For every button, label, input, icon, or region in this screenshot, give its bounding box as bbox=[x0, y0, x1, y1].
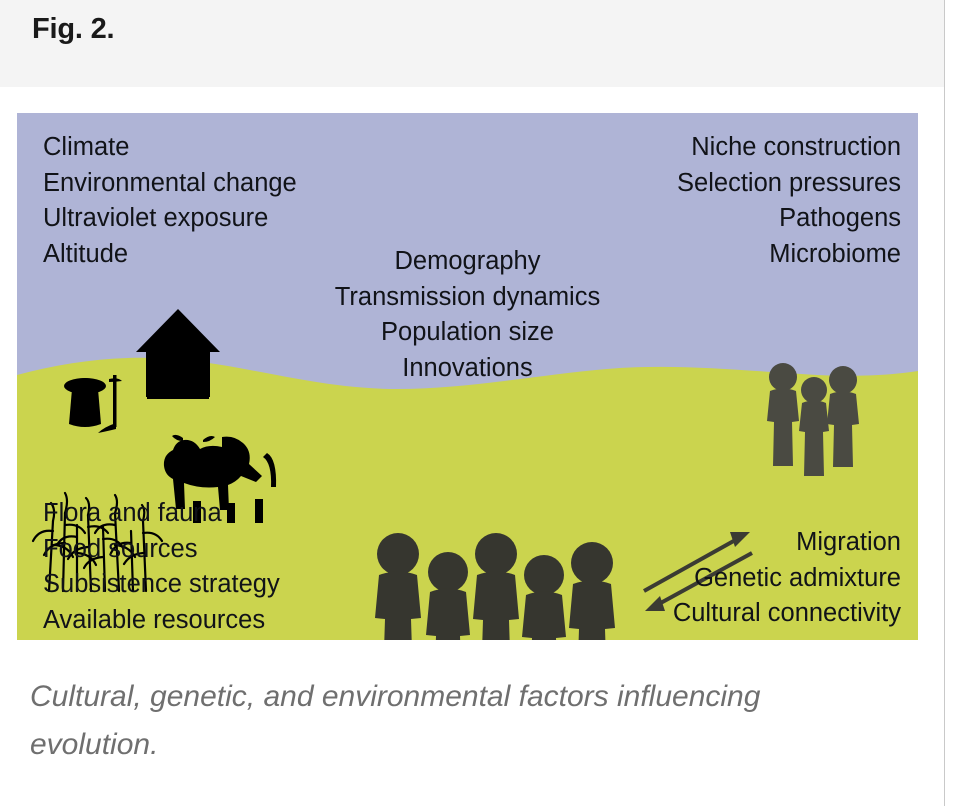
person-silhouette bbox=[426, 552, 470, 640]
resources-line: Subsistence strategy bbox=[43, 567, 280, 603]
niche-line: Niche construction bbox=[677, 130, 901, 166]
text-block-demography: Demography Transmission dynamics Populat… bbox=[17, 244, 918, 386]
migration-line: Migration bbox=[673, 525, 901, 561]
migration-line: Genetic admixture bbox=[673, 561, 901, 597]
person-silhouette bbox=[569, 542, 615, 640]
resources-line: Available resources bbox=[43, 603, 280, 639]
figure-caption: Cultural, genetic, and environmental fac… bbox=[30, 673, 890, 769]
demography-line: Transmission dynamics bbox=[17, 280, 918, 316]
figure-image[interactable]: Climate Environmental change Ultraviolet… bbox=[17, 113, 918, 640]
figure-viewer-page: Fig. 2. bbox=[0, 0, 960, 806]
resources-line: Flora and fauna bbox=[43, 496, 280, 532]
text-block-migration: Migration Genetic admixture Cultural con… bbox=[673, 525, 901, 632]
demography-line: Innovations bbox=[17, 351, 918, 387]
resources-line: Food sources bbox=[43, 532, 280, 568]
environment-line: Climate bbox=[43, 130, 297, 166]
niche-line: Selection pressures bbox=[677, 166, 901, 202]
person-silhouette bbox=[522, 555, 566, 640]
demography-line: Population size bbox=[17, 315, 918, 351]
environment-line: Environmental change bbox=[43, 166, 297, 202]
figure-header-band: Fig. 2. bbox=[0, 0, 945, 87]
niche-line: Pathogens bbox=[677, 201, 901, 237]
demography-line: Demography bbox=[17, 244, 918, 280]
text-block-resources: Flora and fauna Food sources Subsistence… bbox=[43, 496, 280, 638]
page-title: Fig. 2. bbox=[32, 12, 114, 47]
environment-line: Ultraviolet exposure bbox=[43, 201, 297, 237]
right-gutter bbox=[945, 0, 960, 806]
panel-divider bbox=[944, 0, 945, 806]
migration-line: Cultural connectivity bbox=[673, 596, 901, 632]
people-group-main-icon bbox=[375, 533, 615, 640]
